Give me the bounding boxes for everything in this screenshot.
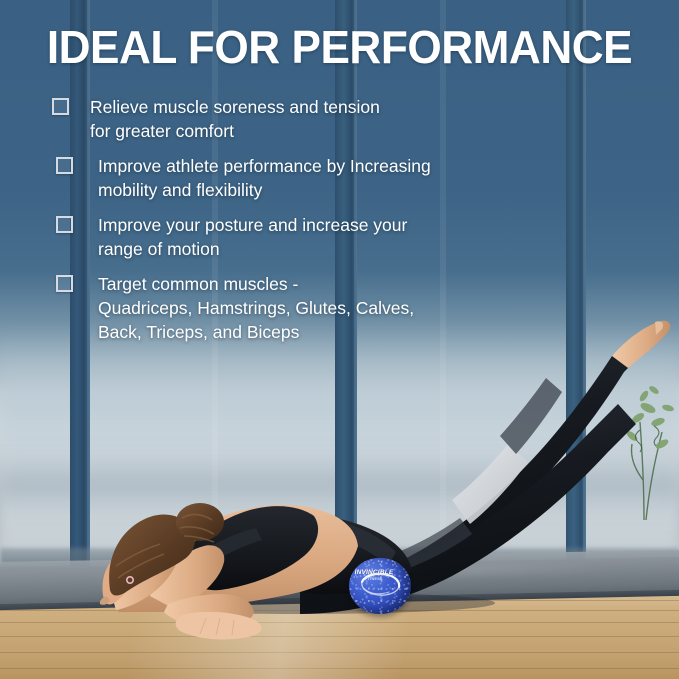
brand-name: INVINCIBLE [349, 569, 399, 576]
checkbox-unchecked-icon[interactable] [52, 98, 69, 115]
list-item: Improve athlete performance by Increasin… [52, 154, 612, 202]
list-item: Relieve muscle soreness and tension for … [52, 95, 612, 143]
checkbox-unchecked-icon[interactable] [56, 275, 73, 292]
product-feature-banner: INVINCIBLE FITNESS IDEAL FOR PERFORMANCE… [0, 0, 679, 679]
foam-roller: INVINCIBLE FITNESS [349, 558, 411, 614]
brand-subtitle: FITNESS [349, 577, 399, 581]
checkbox-unchecked-icon[interactable] [56, 157, 73, 174]
page-title: IDEAL FOR PERFORMANCE [14, 22, 666, 72]
list-item-label: Relieve muscle soreness and tension for … [90, 97, 380, 141]
checkbox-unchecked-icon[interactable] [56, 216, 73, 233]
feature-list: Relieve muscle soreness and tension for … [52, 95, 612, 355]
list-item-label: Target common muscles - Quadriceps, Hams… [98, 274, 414, 342]
list-item: Target common muscles - Quadriceps, Hams… [52, 272, 612, 344]
list-item: Improve your posture and increase your r… [52, 213, 612, 261]
list-item-label: Improve athlete performance by Increasin… [98, 156, 431, 200]
hair-bun [176, 503, 224, 541]
list-item-label: Improve your posture and increase your r… [98, 215, 407, 259]
